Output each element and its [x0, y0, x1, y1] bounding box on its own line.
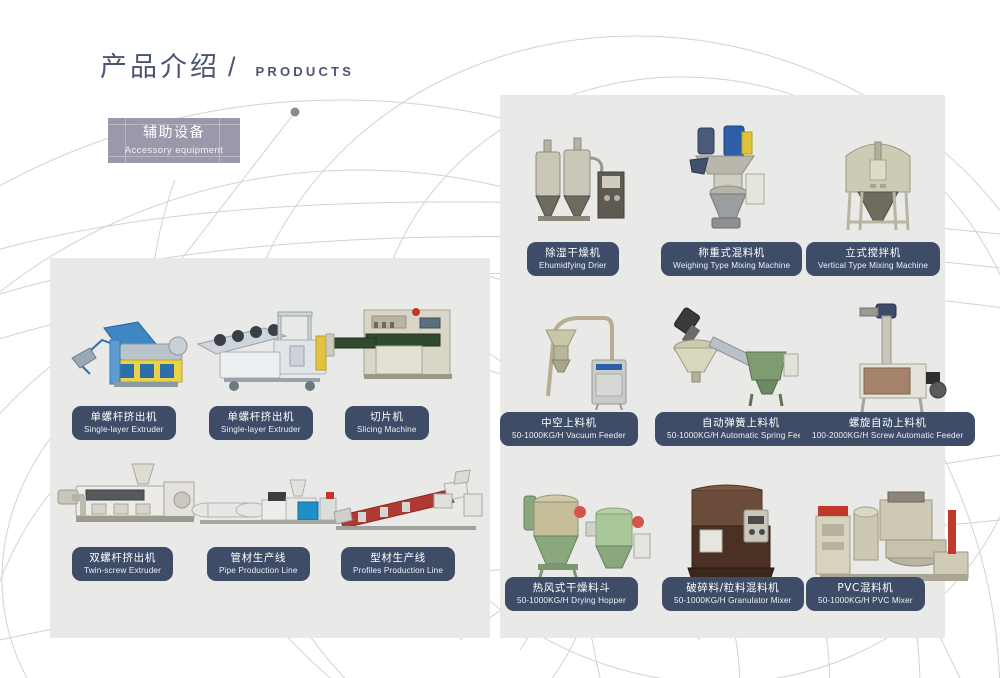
product-caption-twin-screw-extruder[interactable]: 双螺杆挤出机Twin-screw Extruder — [72, 547, 173, 581]
product-image-spring-feeder — [660, 300, 810, 410]
product-caption-single-extruder-blue[interactable]: 单螺杆挤出机Single-layer Extruder — [72, 406, 176, 440]
product-caption-pvc-mixer[interactable]: PVC混料机50-1000KG/H PVC Mixer — [806, 577, 925, 611]
page-title-en: PRODUCTS — [256, 64, 355, 79]
product-name-en: Twin-screw Extruder — [84, 566, 161, 575]
product-name-cn: 单螺杆挤出机 — [91, 411, 158, 423]
product-name-en: Single-layer Extruder — [84, 425, 164, 434]
product-caption-single-extruder-roller[interactable]: 单螺杆挤出机Single-layer Extruder — [209, 406, 313, 440]
category-label-cn: 辅助设备 — [143, 125, 205, 142]
category-label-en: Accessory equipment — [125, 145, 223, 156]
product-name-cn: 中空上料机 — [541, 417, 597, 429]
product-caption-weighing-mixer[interactable]: 称重式混料机Weighing Type Mixing Machine — [661, 242, 802, 276]
category-badge-accessory-equipment: 辅助设备 Accessory equipment — [108, 118, 240, 163]
product-name-cn: 立式搅拌机 — [845, 247, 901, 259]
product-image-single-extruder-blue — [60, 300, 210, 400]
product-caption-vacuum-feeder[interactable]: 中空上料机50-1000KG/H Vacuum Feeder — [500, 412, 638, 446]
page-title-cn: 产品介绍 — [100, 45, 220, 84]
product-image-pvc-mixer — [806, 476, 976, 591]
product-name-en: Ehumidfying Drier — [539, 261, 607, 270]
product-name-cn: 型材生产线 — [370, 552, 426, 564]
product-caption-slicing-machine[interactable]: 切片机Slicing Machine — [345, 406, 429, 440]
product-caption-profiles-production-line[interactable]: 型材生产线Profiles Production Line — [341, 547, 455, 581]
product-name-en: 100-2000KG/H Screw Automatic Feeder — [812, 431, 963, 440]
product-image-dehumidifying-drier — [518, 128, 648, 238]
product-caption-dehumidifying-drier[interactable]: 除湿干燥机Ehumidfying Drier — [527, 242, 619, 276]
product-caption-vertical-mixer[interactable]: 立式搅拌机Vertical Type Mixing Machine — [806, 242, 940, 276]
product-name-cn: 双螺杆挤出机 — [89, 552, 156, 564]
product-image-vertical-mixer — [818, 126, 938, 246]
product-name-cn: 称重式混料机 — [698, 247, 765, 259]
product-name-cn: 破碎料/粒料混料机 — [686, 582, 779, 594]
page-title-separator: / — [228, 52, 236, 83]
product-name-en: Vertical Type Mixing Machine — [818, 261, 928, 270]
product-name-en: 50-1000KG/H Automatic Spring Feeder — [667, 431, 815, 440]
product-name-cn: 自动弹簧上料机 — [702, 417, 780, 429]
product-name-cn: 单螺杆挤出机 — [228, 411, 295, 423]
product-caption-pipe-production-line[interactable]: 管材生产线Pipe Production Line — [207, 547, 310, 581]
product-name-en: Weighing Type Mixing Machine — [673, 261, 790, 270]
product-name-en: 50-1000KG/H PVC Mixer — [818, 596, 913, 605]
product-image-vacuum-feeder — [518, 300, 648, 410]
product-image-slicing-machine — [320, 296, 470, 396]
product-image-single-extruder-roller — [190, 300, 340, 400]
product-name-en: 50-1000KG/H Vacuum Feeder — [512, 431, 626, 440]
product-name-en: 50-1000KG/H Granulator Mixer — [674, 596, 792, 605]
product-name-en: Profiles Production Line — [353, 566, 443, 575]
product-name-en: Pipe Production Line — [219, 566, 298, 575]
product-name-cn: 切片机 — [370, 411, 403, 423]
product-image-screw-feeder — [820, 296, 960, 416]
product-name-en: 50-1000KG/H Drying Hopper — [517, 596, 626, 605]
product-caption-granulator-mixer[interactable]: 破碎料/粒料混料机50-1000KG/H Granulator Mixer — [662, 577, 804, 611]
product-name-cn: 螺旋自动上料机 — [849, 417, 927, 429]
product-name-cn: 热风式干燥料斗 — [533, 582, 611, 594]
product-image-drying-hopper — [508, 476, 668, 591]
product-name-cn: PVC混料机 — [837, 582, 893, 594]
product-image-granulator-mixer — [670, 472, 800, 587]
product-image-weighing-mixer — [668, 118, 788, 238]
product-caption-drying-hopper[interactable]: 热风式干燥料斗50-1000KG/H Drying Hopper — [505, 577, 638, 611]
product-name-en: Single-layer Extruder — [221, 425, 301, 434]
page-title: 产品介绍 / PRODUCTS — [100, 45, 354, 84]
product-name-en: Slicing Machine — [357, 425, 417, 434]
product-name-cn: 除湿干燥机 — [545, 247, 601, 259]
product-caption-screw-feeder[interactable]: 螺旋自动上料机100-2000KG/H Screw Automatic Feed… — [800, 412, 975, 446]
product-name-cn: 管材生产线 — [231, 552, 287, 564]
